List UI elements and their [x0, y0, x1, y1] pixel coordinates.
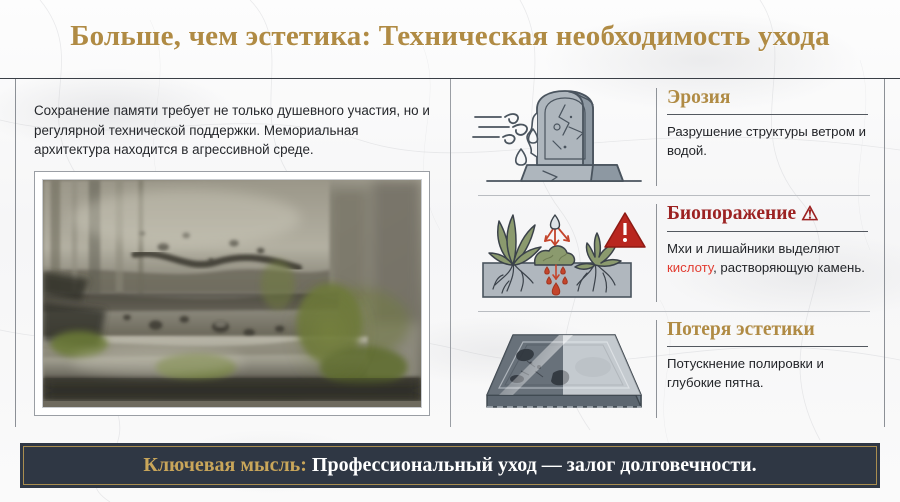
card-desc-bio: Мхи и лишайники выделяют кислоту, раство…: [667, 240, 875, 277]
key-message-banner: Ключевая мысль: Профессиональный уход — …: [20, 443, 880, 488]
polished-slab-stain-icon: [465, 315, 655, 423]
desc-highlight-acid: кислоту: [667, 260, 713, 275]
card-biological-damage[interactable]: Биопоражение⚠ Мхи и лишайники выделяют к…: [451, 195, 884, 311]
card-desc-aesthetics: Потускнение полировки и глубокие пятна.: [667, 355, 875, 392]
polished-slab-stain-svg: [465, 315, 655, 423]
eroded-gravestone-svg: [465, 83, 655, 191]
key-message-text: Ключевая мысль: Профессиональный уход — …: [143, 454, 756, 477]
key-message-inner: Ключевая мысль: Профессиональный уход — …: [23, 446, 877, 485]
card-body: Эрозия Разрушение структуры ветром и вод…: [667, 85, 875, 189]
card-title-bio-text: Биопоражение: [667, 203, 796, 224]
warning-triangle-icon: ⚠: [801, 202, 818, 228]
title-underline: [667, 346, 868, 347]
card-title-erosion: Эрозия: [667, 85, 875, 111]
stone-photo-image: [43, 180, 421, 401]
card-vertical-rule: [656, 320, 657, 418]
card-body: Биопоражение⚠ Мхи и лишайники выделяют к…: [667, 201, 875, 305]
warning-triangle-icon: [605, 213, 645, 247]
card-title-bio: Биопоражение⚠: [667, 201, 875, 228]
left-column: Сохранение памяти требует не только душе…: [16, 79, 450, 427]
card-vertical-rule: [656, 204, 657, 302]
photo-frame: [34, 171, 430, 416]
desc-pre: Мхи и лишайники выделяют: [667, 241, 840, 256]
title-underline: [667, 231, 868, 232]
card-desc-text: Разрушение структуры ветром и водой.: [667, 124, 866, 158]
stone-photo: [42, 179, 422, 408]
card-aesthetic-loss[interactable]: Потеря эстетики Потускнение полировки и …: [451, 311, 884, 427]
intro-paragraph: Сохранение памяти требует не только душе…: [34, 101, 430, 160]
card-title-aesthetics: Потеря эстетики: [667, 317, 875, 343]
key-message-label: Ключевая мысль:: [143, 454, 307, 476]
moss-lichen-acid-icon: [465, 199, 655, 307]
card-desc-erosion: Разрушение структуры ветром и водой.: [667, 123, 875, 160]
moss-lichen-acid-svg: [465, 199, 655, 307]
eroded-gravestone-icon: [465, 83, 655, 191]
frame-border-right: [884, 79, 885, 427]
right-column: Эрозия Разрушение структуры ветром и вод…: [451, 79, 884, 427]
page-title: Больше, чем эстетика: Техническая необхо…: [0, 20, 900, 53]
card-vertical-rule: [656, 88, 657, 186]
key-message-statement: Профессиональный уход — залог долговечно…: [307, 454, 757, 476]
desc-post: , растворяющую камень.: [713, 260, 865, 275]
slide-root: Больше, чем эстетика: Техническая необхо…: [0, 0, 900, 502]
title-underline: [667, 114, 868, 115]
card-erosion[interactable]: Эрозия Разрушение структуры ветром и вод…: [451, 79, 884, 195]
card-body: Потеря эстетики Потускнение полировки и …: [667, 317, 875, 421]
card-desc-text: Потускнение полировки и глубокие пятна.: [667, 356, 824, 390]
card-separator: [478, 195, 870, 196]
header: Больше, чем эстетика: Техническая необхо…: [0, 0, 900, 78]
card-separator: [478, 311, 870, 312]
